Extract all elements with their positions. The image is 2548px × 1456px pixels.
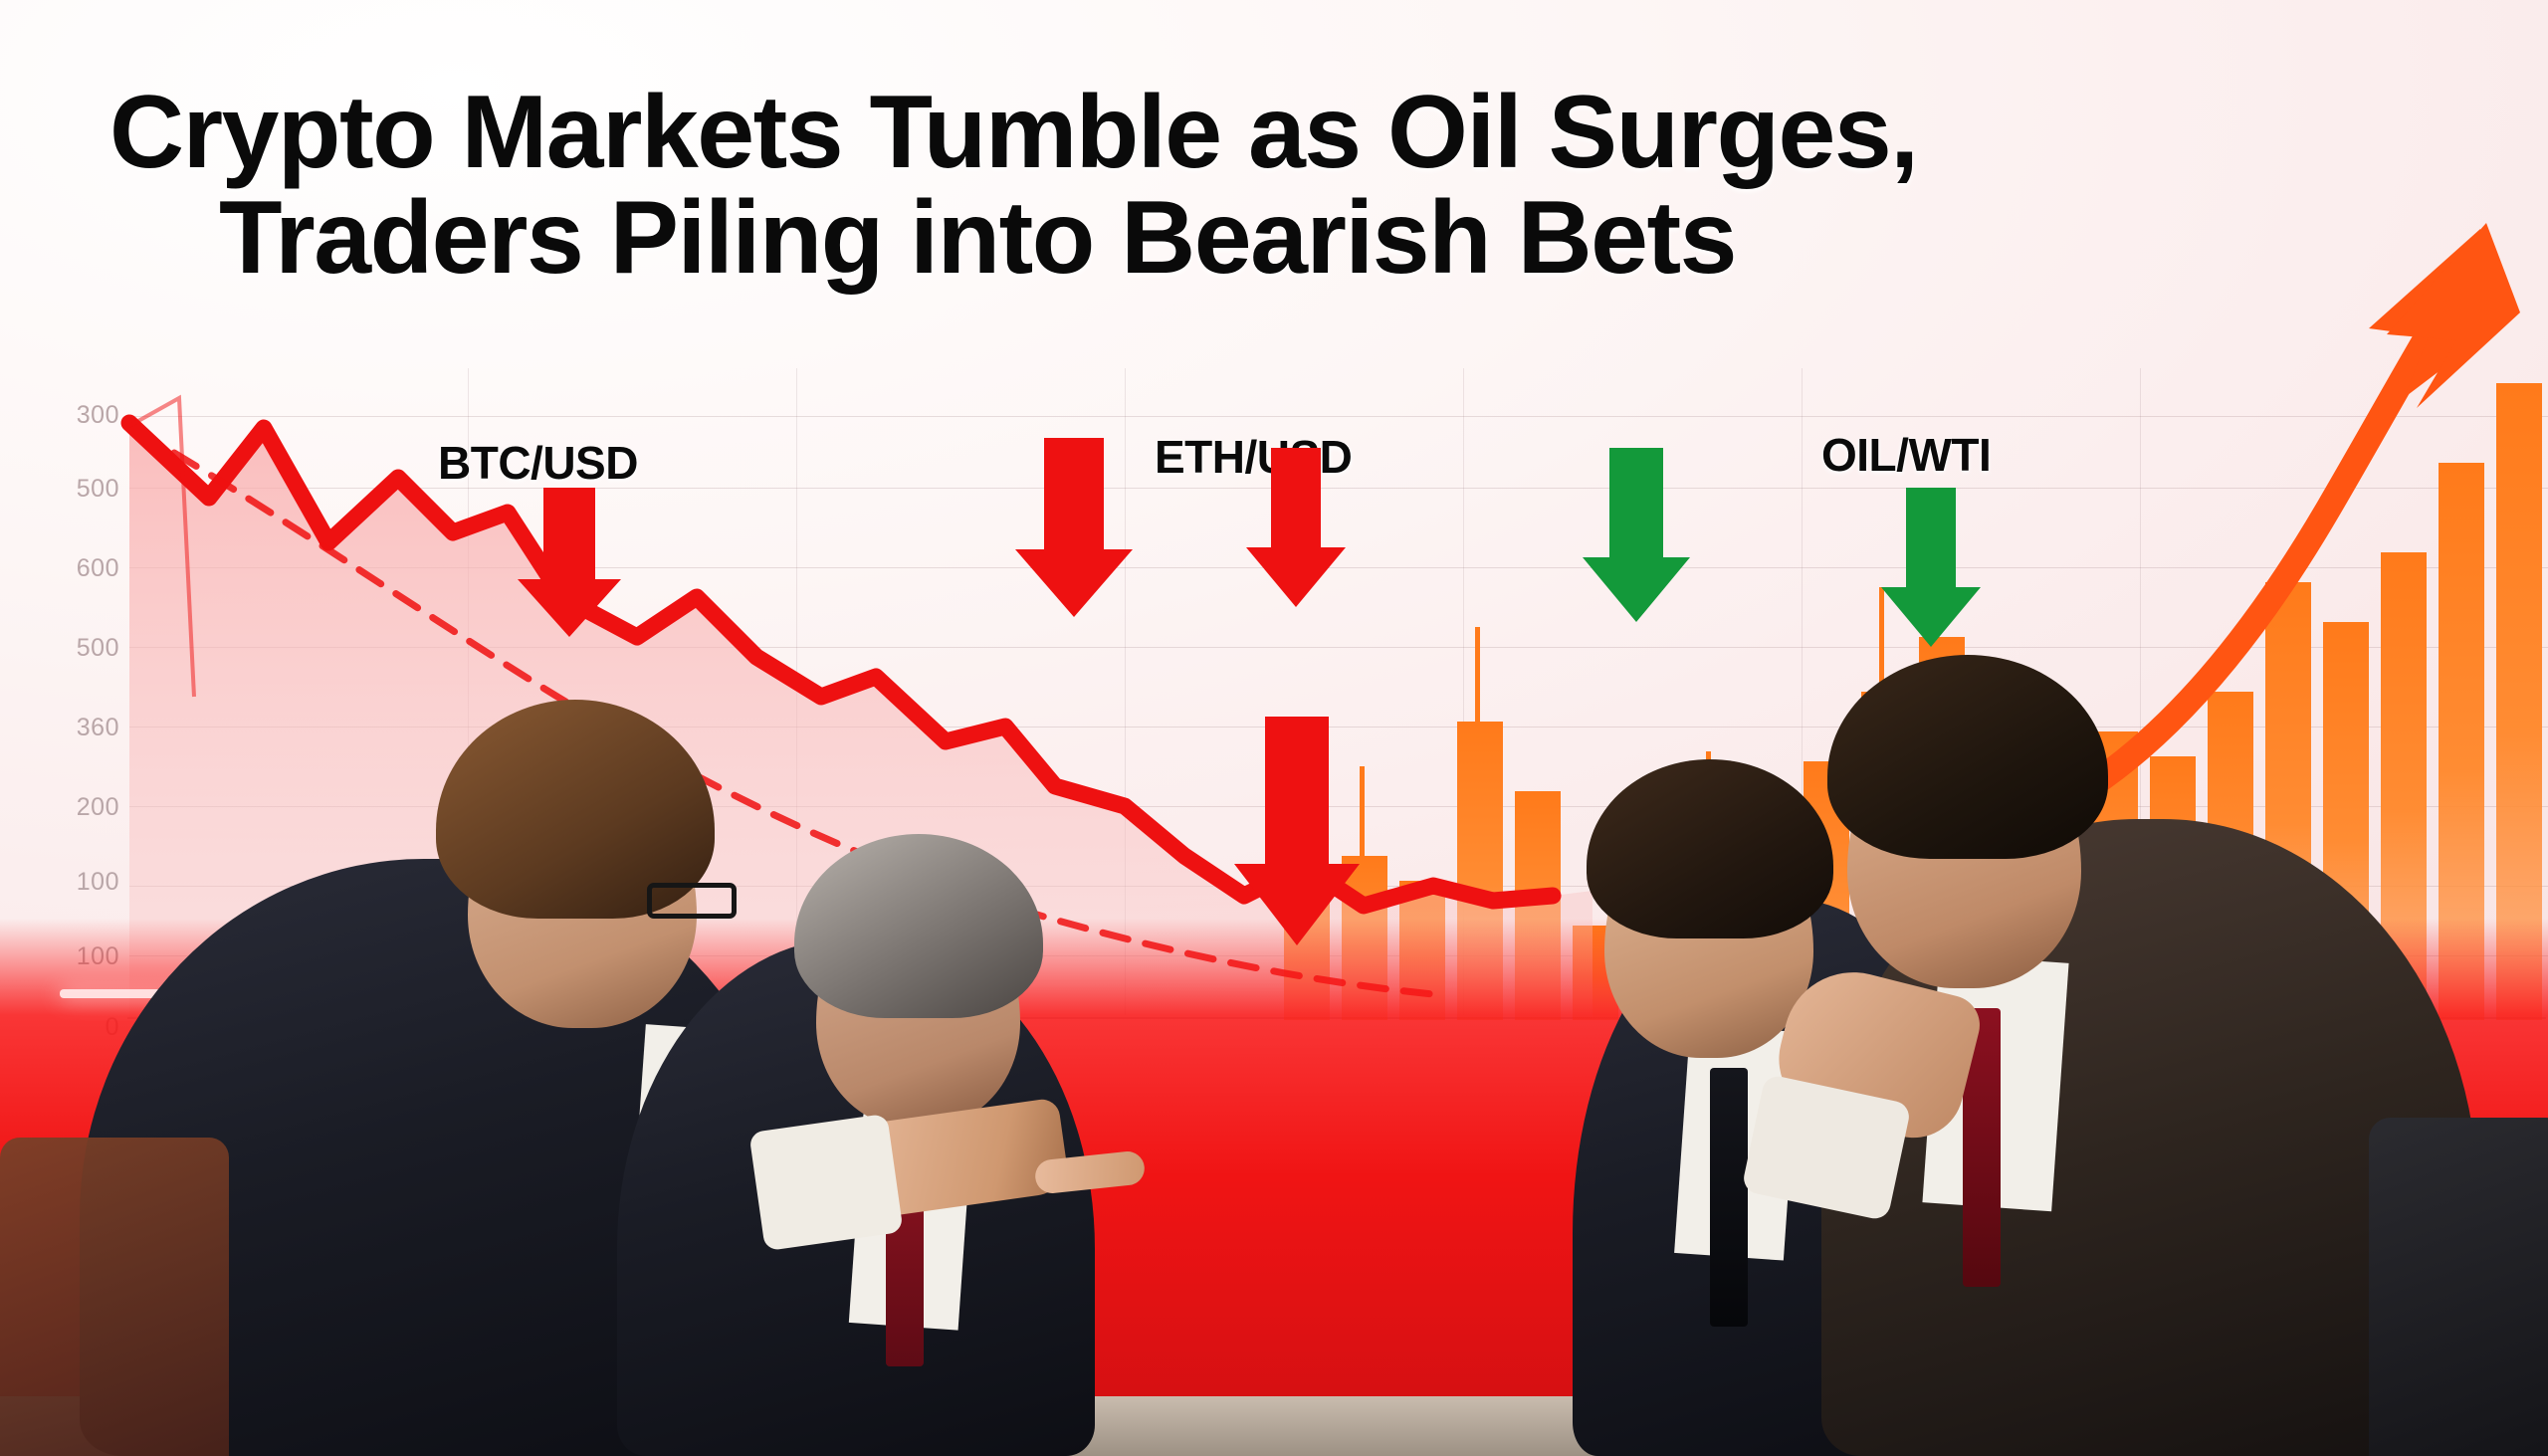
down-arrow-eth-2 xyxy=(1246,448,1346,607)
label-oil-wti: OIL/WTI xyxy=(1821,428,1991,482)
trader-2-hair xyxy=(794,834,1043,1018)
headline-line-1: Crypto Markets Tumble as Oil Surges, xyxy=(109,75,1918,190)
infographic-canvas: 300 500 600 500 360 200 100 100 0 201 20… xyxy=(0,0,2548,1456)
label-btc-usd: BTC/USD xyxy=(438,436,638,490)
shirt-cuff xyxy=(748,1114,903,1251)
down-arrow-green-1 xyxy=(1583,448,1690,622)
trader-3-hair xyxy=(1587,759,1833,938)
office-chair-left xyxy=(0,1138,229,1456)
trader-4-hair xyxy=(1827,655,2108,859)
office-chair-right xyxy=(2369,1118,2548,1456)
down-arrow-eth-3 xyxy=(1234,717,1360,945)
down-arrow-btc xyxy=(518,488,621,637)
page-title: Crypto Markets Tumble as Oil Surges, Tra… xyxy=(109,80,2399,291)
down-arrow-eth-1 xyxy=(1015,438,1133,617)
glasses-icon xyxy=(647,883,737,919)
headline-line-2: Traders Piling into Bearish Bets xyxy=(109,185,2399,291)
trader-3-black-tie xyxy=(1710,1068,1748,1327)
down-arrow-green-2 xyxy=(1881,488,1981,647)
